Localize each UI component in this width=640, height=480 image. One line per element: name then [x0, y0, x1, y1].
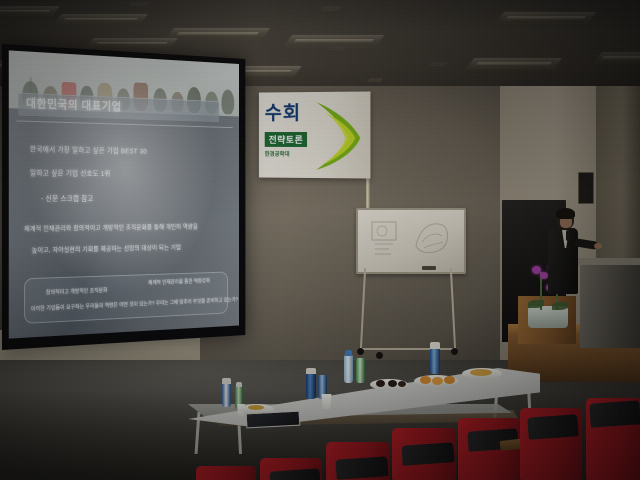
ceiling-light-fixture	[86, 38, 178, 48]
ceiling-light-fixture	[166, 28, 271, 39]
presenter-hair	[556, 208, 575, 219]
snack-food	[248, 405, 264, 410]
banner-title: 수회	[265, 98, 301, 125]
ceiling-vent	[366, 78, 383, 82]
water-bottle	[344, 355, 353, 383]
seat-headrest	[527, 414, 578, 439]
banner-organizer: 한경공학대	[265, 150, 290, 158]
photo-scene: 수회 전략토론 한경공학대	[0, 0, 640, 480]
bottle-cap-icon	[345, 350, 352, 356]
ceiling-vent	[328, 46, 347, 50]
ceiling-light-fixture	[284, 35, 385, 46]
lectern	[580, 262, 640, 348]
lectern-top	[578, 258, 640, 265]
slide-paragraph-line: 체계적 인재관리와 창의적이고 개방적인 조직문화를 통해 개인의 역량을	[24, 222, 198, 233]
ceiling-light-fixture	[594, 52, 640, 63]
slide-bullet: 일하고 싶은 기업 선호도 1위	[30, 168, 111, 179]
bottle-cap-icon	[236, 382, 242, 387]
ceiling-light-fixture	[0, 6, 60, 16]
whiteboard-crossbar	[362, 348, 454, 350]
ceiling-light-fixture	[466, 58, 563, 69]
beverage-can-lid	[222, 378, 231, 384]
fruit-orange	[420, 376, 431, 384]
whiteboard-caster-icon	[451, 348, 458, 355]
green-chevron-logo-icon	[310, 98, 366, 173]
orchid-bloom	[540, 272, 548, 279]
microphone-icon	[566, 230, 570, 241]
slide-body: 대한민국의 대표기업 한국에서 가장 일하고 싶은 기업 BEST 30 일하고…	[9, 108, 239, 338]
orchid-leaf	[528, 300, 544, 308]
slide-callout-line: 이러한 기업들이 요구하는 우리들의 역량은 어떤 것이 있는가? 우리는 그에…	[31, 296, 238, 313]
snack-food	[470, 369, 492, 376]
whiteboard-marker-tray	[422, 266, 436, 270]
slide-bullet: - 신문 스크랩 참고	[41, 194, 93, 204]
wall-banner: 수회 전략토론 한경공학대	[259, 91, 371, 178]
ceiling-light-fixture	[54, 14, 148, 24]
slide-paragraph-line: 높이고, 자아실현의 기회를 제공하는 선망의 대상이 되는 기업	[32, 242, 181, 254]
projection-screen-surface: 대한민국의 대표기업 한국에서 가장 일하고 싶은 기업 BEST 30 일하고…	[9, 50, 239, 338]
ceiling-vent	[128, 2, 149, 6]
beverage-can	[306, 373, 316, 399]
banner-subtitle: 전략토론	[265, 132, 307, 147]
ceiling-vent	[320, 6, 342, 11]
whiteboard-caster-icon	[357, 348, 364, 355]
slide-divider	[16, 120, 232, 128]
seat-headrest	[335, 456, 388, 480]
photo-band-object	[221, 89, 234, 114]
seat-headrest	[589, 400, 640, 427]
fruit-orange	[432, 377, 443, 385]
slide-callout-box: 창의적이고 개방적인 조직문화 체계적 인재관리를 통한 역량강화 이러한 기업…	[24, 272, 228, 324]
seat-cushion	[196, 466, 256, 480]
presenter-legs	[552, 290, 574, 330]
beverage-can-lid	[430, 342, 440, 349]
dark-folder-document[interactable]	[246, 411, 301, 429]
beverage-can	[222, 383, 231, 407]
presenter-hand	[594, 243, 602, 249]
whiteboard-caster-icon	[376, 352, 383, 359]
slide-callout-line: 체계적 인재관리를 통한 역량강화	[148, 277, 210, 287]
beverage-can-lid	[306, 368, 316, 374]
projection-screen: 대한민국의 대표기업 한국에서 가장 일하고 싶은 기업 BEST 30 일하고…	[2, 44, 245, 350]
beverage-can	[430, 348, 440, 374]
ceiling-vent	[428, 62, 447, 66]
presenter-suit	[548, 228, 578, 294]
seat-headrest	[401, 442, 454, 466]
slide-bullet: 한국에서 가장 일하고 싶은 기업 BEST 30	[30, 145, 147, 157]
mobile-whiteboard	[356, 208, 466, 274]
fruit-dark	[388, 380, 397, 387]
whiteboard-sketch-icon	[366, 218, 408, 264]
fruit-orange	[444, 376, 455, 384]
slide-callout-line: 창의적이고 개방적인 조직문화	[46, 286, 108, 296]
fruit-dark	[398, 381, 406, 387]
slide-title: 대한민국의 대표기업	[26, 95, 122, 114]
wall-speaker-icon	[578, 172, 594, 204]
ceiling-light-fixture	[496, 12, 597, 23]
slide: 대한민국의 대표기업 한국에서 가장 일하고 싶은 기업 BEST 30 일하고…	[9, 50, 239, 338]
water-bottle	[356, 358, 365, 383]
fruit-dark	[376, 380, 385, 387]
whiteboard-sketch-icon	[410, 216, 454, 258]
